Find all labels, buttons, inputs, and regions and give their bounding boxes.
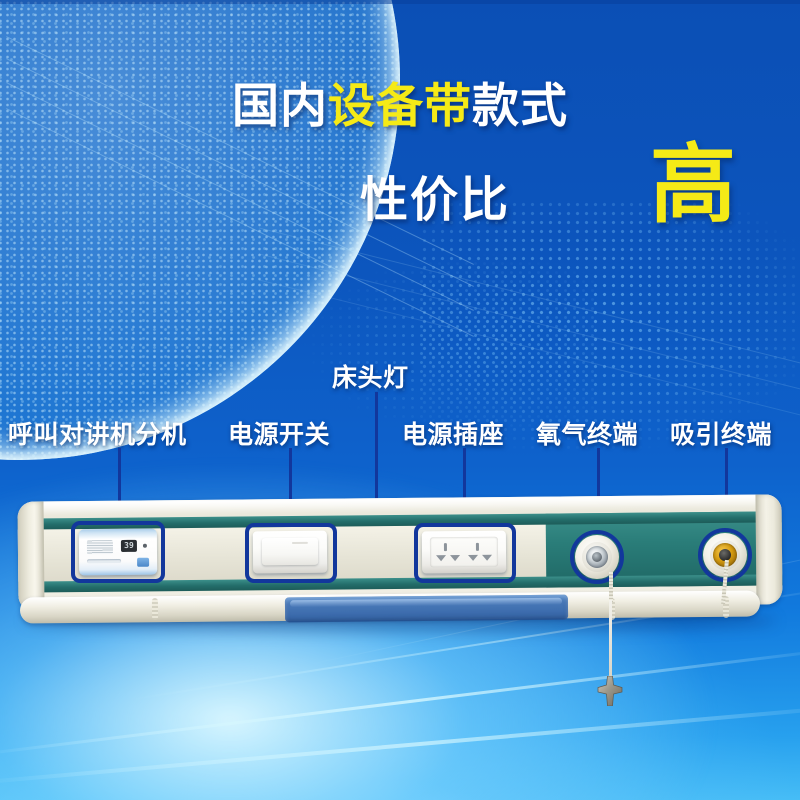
rail-seam (152, 598, 158, 620)
headline-seg-1: 国内 (232, 79, 328, 132)
highlight-marker-switch (245, 523, 337, 583)
dot-world-map-pattern-secondary (300, 250, 600, 440)
callout-label-oxygen: 氧气终端 (536, 415, 638, 451)
headline-block: 国内设备带款式 (0, 82, 800, 129)
panel-end-cap-right (755, 494, 782, 604)
headline-seg-3: 款式 (472, 79, 568, 132)
callout-label-switch: 电源开关 (228, 415, 330, 451)
callout-label-intercom: 呼叫对讲机分机 (8, 415, 187, 451)
callout-label-suction: 吸引终端 (670, 415, 772, 451)
callout-label-lamp: 床头灯 (332, 358, 409, 394)
highlight-marker-oxygen (570, 530, 624, 584)
callout-label-socket: 电源插座 (402, 415, 504, 451)
pull-cord-upper (609, 572, 613, 602)
top-edge-bar (0, 0, 800, 4)
banner-canvas: 国内设备带款式 性价比 高 呼叫对讲机分机 电源开关 床头灯 电源插座 氧气终端… (0, 0, 800, 800)
headline-seg-2: 设备带 (328, 79, 472, 132)
cord-handle-icon (597, 676, 623, 706)
pull-cord-handle[interactable] (597, 676, 623, 706)
highlight-marker-intercom (71, 521, 165, 583)
headline-line-2: 性价比 (360, 160, 510, 230)
panel-end-cap-left (17, 501, 44, 611)
headline-accent-gao: 高 (650, 142, 736, 228)
headline-line-1: 国内设备带款式 (0, 82, 800, 129)
highlight-marker-socket (414, 523, 516, 583)
pull-cord[interactable] (609, 600, 612, 682)
